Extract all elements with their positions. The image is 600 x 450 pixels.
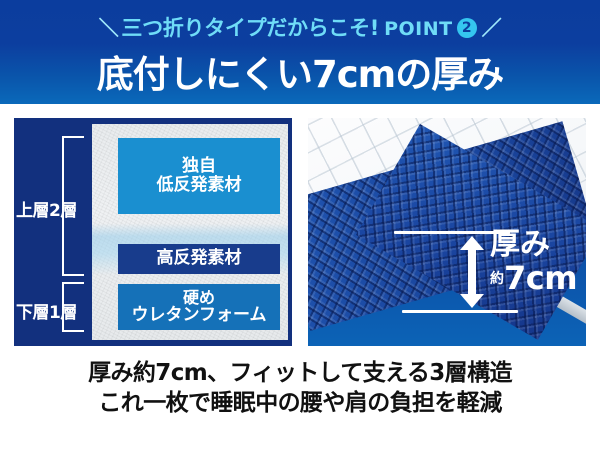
thickness-value-row: 約7cm [490,262,577,294]
page-title: 底付しにくい7cmの厚み [0,44,600,98]
layer-box-low-rebound: 独自 低反発素材 [118,138,280,214]
layer-low-line2: 低反発素材 [157,176,242,195]
slash-left-icon: ＼ [96,16,122,40]
panels-row: 上層2層 下層1層 独自 低反発素材 高反発素材 硬め ウレタンフォーム [0,104,600,356]
layer-diagram-panel: 上層2層 下層1層 独自 低反発素材 高反発素材 硬め ウレタンフォーム [14,118,292,346]
layer-firm-line2: ウレタンフォーム [132,306,267,325]
mattress-photo-panel: 厚み 約7cm [308,118,586,346]
lower-layer-label: 下層1層 [16,298,77,323]
kicker-text: 三つ折りタイプだからこそ! [121,16,379,40]
layer-firm-line1: 硬め [183,289,215,307]
upper-layers-label: 上層2層 [16,196,77,221]
infographic-page: ＼三つ折りタイプだからこそ!POINT2／ 底付しにくい7cmの厚み 上層2層 … [0,0,600,450]
arrow-head-down [460,294,484,308]
point-number-badge: 2 [457,18,477,38]
thickness-arrow-icon [460,236,484,308]
caption-line-1: 厚み約7cm、フィットして支える3層構造 [0,358,600,388]
layer-box-urethane-foam: 硬め ウレタンフォーム [118,284,280,330]
slash-right-icon: ／ [479,16,505,40]
point-word: POINT [379,18,453,40]
thickness-approx: 約 [490,271,504,287]
header-banner: ＼三つ折りタイプだからこそ!POINT2／ 底付しにくい7cmの厚み [0,0,600,104]
layer-box-high-rebound: 高反発素材 [118,244,280,274]
thickness-word: 厚み [490,230,577,260]
arrow-shaft [468,248,476,296]
layer-low-line1: 独自 [182,157,216,176]
layer-high-line1: 高反発素材 [157,249,242,268]
caption-line-2: これ一枚で睡眠中の腰や肩の負担を軽減 [0,388,600,418]
header-kicker: ＼三つ折りタイプだからこそ!POINT2／ [0,12,600,42]
measure-line-bottom [402,310,518,313]
caption-block: 厚み約7cm、フィットして支える3層構造 これ一枚で睡眠中の腰や肩の負担を軽減 [0,358,600,419]
thickness-annotation: 厚み 約7cm [490,230,577,294]
thickness-value: 7cm [504,259,577,297]
